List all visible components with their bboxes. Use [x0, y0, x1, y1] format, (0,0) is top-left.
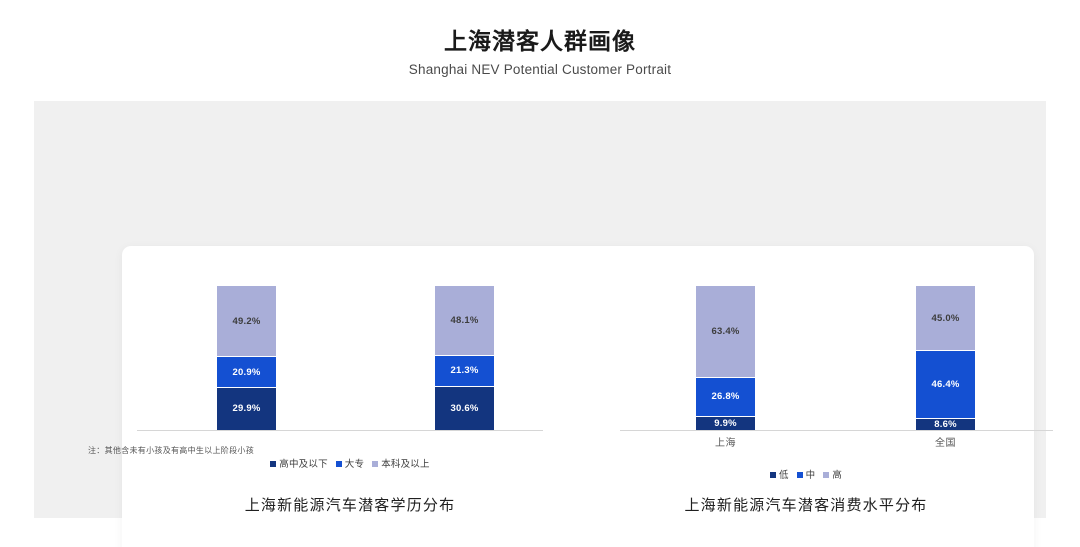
bar-segment-value: 26.8%	[712, 391, 740, 402]
legend-item[interactable]: 低	[770, 467, 789, 481]
axis-line	[137, 430, 543, 431]
chart-consumption-distribution: 9.9%26.8%63.4% 8.6%46.4%45.0% 上海 全国 低中高 …	[578, 246, 1034, 547]
legend-label: 中	[806, 470, 816, 481]
bar-segment[interactable]: 29.9%	[216, 387, 277, 430]
plot-area-consumption: 9.9%26.8%63.4% 8.6%46.4%45.0%	[620, 286, 1053, 431]
legend-label: 大专	[345, 459, 364, 470]
chart-caption: 上海新能源汽车潜客学历分布	[122, 494, 578, 515]
bar-segment-value: 29.9%	[233, 403, 261, 414]
legend-swatch-icon	[770, 472, 776, 478]
legend-item[interactable]: 大专	[336, 456, 364, 470]
category-axis-labels: 上海 全国	[620, 434, 1053, 450]
legend-item[interactable]: 高中及以下	[270, 456, 328, 470]
legend-swatch-icon	[336, 461, 342, 467]
legend-label: 高中及以下	[279, 459, 328, 470]
stacked-bar[interactable]: 30.6%21.3%48.1%	[434, 285, 495, 430]
bar-segment[interactable]: 20.9%	[216, 356, 277, 386]
bar-segment[interactable]: 49.2%	[216, 285, 277, 356]
charts-row: 29.9%20.9%49.2% 30.6%21.3%48.1% 高中及以下大专本…	[122, 246, 1034, 547]
legend-swatch-icon	[797, 472, 803, 478]
legend-label: 本科及以上	[381, 459, 430, 470]
plot-area-education: 29.9%20.9%49.2% 30.6%21.3%48.1%	[137, 286, 543, 431]
legend-swatch-icon	[270, 461, 276, 467]
axis-line	[620, 430, 1053, 431]
bar-segment[interactable]: 9.9%	[695, 416, 756, 430]
chart-legend: 高中及以下大专本科及以上	[122, 454, 578, 472]
bar-segment-value: 49.2%	[233, 316, 261, 327]
bar-segment[interactable]: 21.3%	[434, 355, 495, 386]
bar-segment-value: 9.9%	[714, 418, 736, 429]
bar-segment[interactable]: 48.1%	[434, 285, 495, 355]
legend-label: 低	[779, 470, 789, 481]
bar-segment[interactable]: 26.8%	[695, 377, 756, 416]
content-panel: 29.9%20.9%49.2% 30.6%21.3%48.1% 高中及以下大专本…	[34, 101, 1046, 518]
stacked-bar[interactable]: 8.6%46.4%45.0%	[915, 285, 976, 430]
bar-segment-value: 21.3%	[451, 365, 479, 376]
bar-segment[interactable]: 8.6%	[915, 418, 976, 430]
bar-segment-value: 46.4%	[932, 379, 960, 390]
footnote: 注：其他含未有小孩及有高中生以上阶段小孩	[34, 445, 254, 456]
bar-segment-value: 48.1%	[451, 315, 479, 326]
stacked-bar[interactable]: 29.9%20.9%49.2%	[216, 285, 277, 430]
bar-segment[interactable]: 45.0%	[915, 285, 976, 350]
legend-swatch-icon	[823, 472, 829, 478]
category-label: 上海	[695, 434, 756, 449]
bar-segment[interactable]: 46.4%	[915, 350, 976, 417]
page-title: 上海潜客人群画像	[0, 26, 1080, 56]
chart-education-distribution: 29.9%20.9%49.2% 30.6%21.3%48.1% 高中及以下大专本…	[122, 246, 578, 547]
legend-item[interactable]: 高	[823, 467, 842, 481]
legend-item[interactable]: 中	[797, 467, 816, 481]
charts-card: 29.9%20.9%49.2% 30.6%21.3%48.1% 高中及以下大专本…	[122, 246, 1034, 547]
category-label: 全国	[915, 434, 976, 449]
bar-segment-value: 63.4%	[712, 326, 740, 337]
legend-item[interactable]: 本科及以上	[372, 456, 430, 470]
bar-segment[interactable]: 30.6%	[434, 386, 495, 430]
slide-header: 上海潜客人群画像 Shanghai NEV Potential Customer…	[0, 26, 1080, 77]
bar-segment-value: 8.6%	[934, 419, 956, 430]
legend-label: 高	[832, 470, 842, 481]
page-subtitle: Shanghai NEV Potential Customer Portrait	[0, 62, 1080, 77]
bar-segment-value: 45.0%	[932, 313, 960, 324]
legend-swatch-icon	[372, 461, 378, 467]
bar-segment[interactable]: 63.4%	[695, 285, 756, 377]
bar-segment-value: 20.9%	[233, 367, 261, 378]
bar-segment-value: 30.6%	[451, 403, 479, 414]
chart-legend: 低中高	[578, 465, 1034, 483]
stacked-bar[interactable]: 9.9%26.8%63.4%	[695, 285, 756, 430]
slide-root: 上海潜客人群画像 Shanghai NEV Potential Customer…	[0, 0, 1080, 547]
chart-caption: 上海新能源汽车潜客消费水平分布	[578, 494, 1034, 515]
